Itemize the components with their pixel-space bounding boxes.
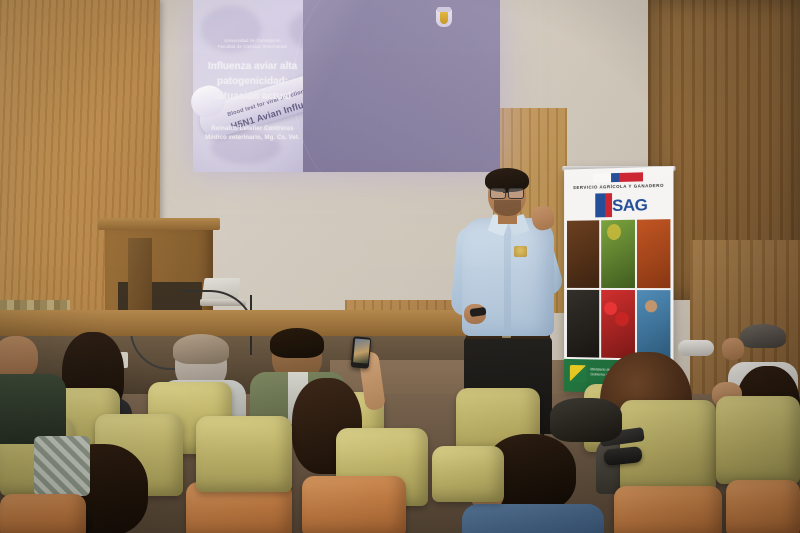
sag-logo: SAG bbox=[595, 192, 643, 217]
slide-title-line3: Situación actual bbox=[180, 90, 325, 105]
slide-title-line1: Influenza aviar alta bbox=[180, 60, 325, 75]
seat[interactable] bbox=[716, 396, 800, 484]
seat[interactable] bbox=[196, 416, 292, 492]
stage-edge bbox=[0, 310, 470, 336]
seat[interactable] bbox=[0, 494, 86, 533]
sag-logo-text: SAG bbox=[612, 192, 647, 217]
presentation-photo-scene: Blood test for viral infection H5N1 Avia… bbox=[0, 0, 800, 533]
banner-organization-header: SERVICIO AGRÍCOLA Y GANADERO bbox=[568, 183, 669, 191]
chile-flag-icon bbox=[564, 171, 673, 183]
slide-author-role: Médico veterinario, Mg. Cs. Vet. bbox=[185, 133, 320, 142]
seat[interactable] bbox=[614, 486, 722, 533]
lectern-top bbox=[98, 218, 220, 230]
udec-crest-icon bbox=[436, 6, 452, 27]
banner-photo-collage bbox=[567, 219, 670, 359]
slide-author-name: Reinaldo Letelier Contreras bbox=[185, 124, 320, 133]
collage-cell-cattle bbox=[567, 220, 600, 288]
slide-university-line2: Facultad de Ciencias Veterinarias bbox=[195, 44, 310, 50]
collage-cell-fruit bbox=[601, 290, 634, 358]
smartphone[interactable] bbox=[351, 336, 372, 368]
seat[interactable] bbox=[726, 480, 800, 533]
slide-author-block: Reinaldo Letelier Contreras Médico veter… bbox=[185, 124, 320, 143]
shirt-logo-patch bbox=[514, 246, 527, 257]
slide-title-line2: patogenicidad: bbox=[180, 75, 325, 90]
collage-cell-grain bbox=[637, 219, 671, 288]
gobierno-logo-icon bbox=[570, 365, 587, 382]
bag-on-floor bbox=[550, 398, 622, 442]
phone-screen bbox=[353, 338, 370, 363]
collage-cell-inspector bbox=[637, 290, 671, 359]
seat[interactable] bbox=[432, 446, 504, 502]
eyeglasses-icon bbox=[490, 188, 506, 199]
seat[interactable] bbox=[302, 476, 406, 533]
collage-cell-livestock bbox=[567, 290, 600, 358]
slide-university-block: Universidad de Concepción Facultad de Ci… bbox=[195, 38, 310, 50]
slide-title-block: Influenza aviar alta patogenicidad: Situ… bbox=[180, 60, 325, 104]
collage-cell-crop bbox=[601, 220, 634, 288]
